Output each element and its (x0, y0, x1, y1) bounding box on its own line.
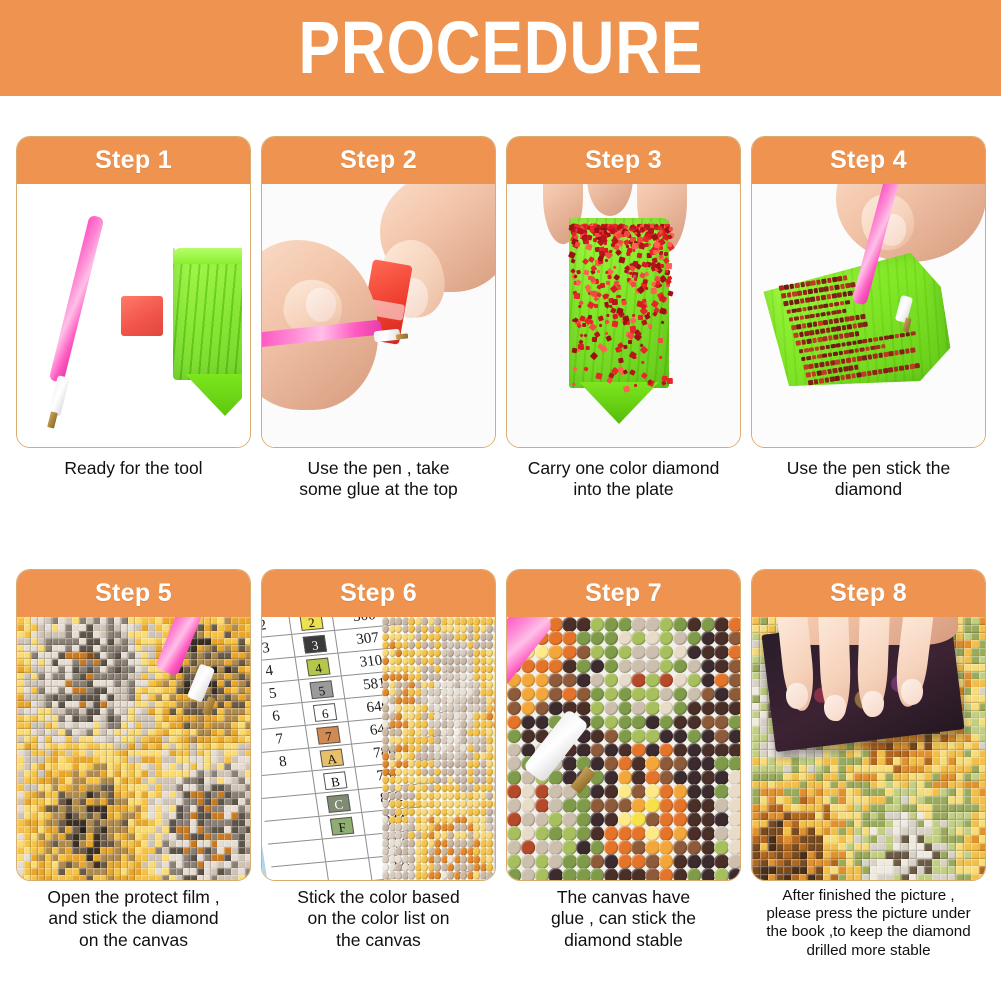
mosaic-tile (631, 659, 645, 674)
mosaic-tile (673, 617, 687, 632)
red-drill (854, 365, 859, 370)
legend-symbol: 6 (313, 703, 337, 722)
mosaic-tile (760, 703, 768, 711)
mosaic-tile (760, 851, 768, 859)
mosaic-tile (493, 784, 496, 793)
mosaic-tile (645, 784, 659, 799)
step-header-label-7: Step 7 (585, 579, 662, 608)
red-drill (848, 365, 853, 370)
tray-lip (173, 248, 242, 264)
mosaic-tile (590, 617, 604, 632)
red-drill (650, 224, 654, 228)
red-drill (584, 334, 588, 338)
red-drill (786, 292, 791, 297)
red-drill (632, 243, 637, 248)
red-drill (894, 367, 899, 372)
mosaic-tile (590, 701, 604, 716)
mosaic-tile (901, 812, 909, 820)
mosaic-tile (659, 715, 673, 730)
step-cell-1: Step 1 (16, 136, 251, 566)
red-drill (868, 338, 873, 343)
mosaic-tile (714, 715, 728, 730)
mosaic-tile (631, 645, 645, 660)
mosaic-tile (862, 812, 870, 820)
glue-wax-square-icon (121, 296, 163, 336)
nail-4 (901, 679, 923, 705)
mosaic-tile (604, 645, 618, 660)
step-caption-2: Use the pen , take some glue at the top (261, 458, 496, 501)
mosaic-tile (486, 879, 493, 881)
red-drill (660, 320, 664, 324)
mosaic-tile (604, 659, 618, 674)
red-drill (599, 324, 604, 329)
legend-symbol: 5 (309, 680, 333, 699)
mosaic-tile (701, 729, 715, 744)
legend-index (270, 851, 324, 856)
press-book-photo (752, 617, 985, 881)
red-drill (660, 264, 664, 268)
mosaic-tile (590, 659, 604, 674)
mosaic-tile (562, 868, 576, 881)
red-drill (618, 357, 624, 363)
step-card-6[interactable]: Step 6 Symbol DMC 1122300333074431055581… (261, 569, 496, 881)
red-drill (846, 374, 851, 379)
mosaic-tile (909, 812, 917, 820)
mosaic-tile (687, 631, 701, 646)
mosaic-tile (673, 854, 687, 869)
mosaic-tile (408, 879, 415, 881)
mosaic-tile (631, 729, 645, 744)
step-card-4[interactable]: Step 4 (751, 136, 986, 448)
step-header-label-2: Step 2 (340, 146, 417, 175)
mosaic-tile (760, 874, 768, 881)
red-drill (862, 372, 867, 377)
mosaic-tile (618, 673, 632, 688)
mosaic-tile (728, 659, 740, 674)
red-drill (806, 372, 811, 377)
red-drill (852, 323, 857, 328)
legend-symbol: B (323, 771, 347, 790)
mosaic-tile (645, 798, 659, 813)
mosaic-tile (807, 851, 815, 859)
mosaic-tile (473, 879, 480, 881)
red-drill (819, 378, 824, 383)
mosaic-tile (815, 851, 823, 859)
mosaic-tile (659, 631, 673, 646)
mosaic-tile (576, 687, 590, 702)
red-drill (799, 315, 804, 320)
mosaic-tile (507, 729, 521, 744)
mosaic-tile (728, 701, 740, 716)
mosaic-tile (714, 868, 728, 881)
mosaic-tile (909, 874, 917, 881)
red-drill (855, 331, 860, 336)
mosaic-tile (618, 756, 632, 771)
mosaic-tile (204, 875, 212, 881)
step-image-5 (17, 617, 250, 881)
red-drill (594, 303, 599, 308)
mosaic-tile (604, 784, 618, 799)
red-drill (641, 372, 647, 378)
red-drill (828, 335, 833, 340)
mosaic-tile (760, 625, 768, 633)
mosaic-tile (645, 617, 659, 632)
mosaic-tile (701, 701, 715, 716)
red-drill (842, 292, 847, 297)
mosaic-tile (535, 687, 549, 702)
mosaic-tile (576, 645, 590, 660)
legend-symbol: 2 (299, 617, 323, 630)
red-drill (589, 352, 597, 360)
red-drill (816, 279, 821, 284)
mosaic-tile (956, 851, 964, 859)
step-caption-6: Stick the color based on the color list … (261, 887, 496, 951)
mosaic-tile (645, 743, 659, 758)
mosaic-tile (807, 874, 815, 881)
mosaic-tile (245, 736, 250, 744)
nail-2 (824, 695, 846, 721)
mosaic-tile (562, 826, 576, 841)
step-cell-3: Step 3 (506, 136, 741, 566)
legend-symbol: C (326, 794, 350, 813)
red-drill (865, 346, 870, 351)
mosaic-tile (728, 798, 740, 813)
mosaic-tile (631, 784, 645, 799)
mosaic-tile (576, 798, 590, 813)
step-header-label-1: Step 1 (95, 146, 172, 175)
mosaic-tile (673, 659, 687, 674)
mosaic-tile (576, 854, 590, 869)
red-drill (905, 348, 910, 353)
mosaic-tile (687, 687, 701, 702)
red-drill (846, 341, 851, 346)
mosaic-tile (576, 840, 590, 855)
red-drill (619, 256, 626, 263)
mosaic-tile (956, 742, 964, 750)
mosaic-tile (631, 868, 645, 881)
mosaic-tile (521, 784, 535, 799)
red-drill (813, 288, 818, 293)
mosaic-tile (618, 812, 632, 827)
mosaic-tile (467, 879, 474, 881)
red-drill (838, 367, 843, 372)
mosaic-tile (493, 673, 496, 682)
mosaic-tile (631, 631, 645, 646)
red-drill (807, 322, 812, 327)
mosaic-tile (521, 715, 535, 730)
red-drill (827, 352, 832, 357)
mosaic-tile (687, 868, 701, 881)
mosaic-tile (701, 854, 715, 869)
mosaic-tile (535, 645, 549, 660)
red-drill (667, 290, 673, 296)
step-header-4: Step 4 (752, 137, 985, 184)
red-drill (878, 352, 883, 357)
mosaic-tile (618, 826, 632, 841)
mosaic-tile (493, 808, 496, 817)
red-drill (637, 252, 643, 258)
red-drill (813, 305, 818, 310)
mosaic-tile (507, 784, 521, 799)
red-drill (835, 376, 840, 381)
mosaic-tile (714, 826, 728, 841)
red-drill (574, 293, 581, 300)
mosaic-tile (714, 729, 728, 744)
mosaic-tile (728, 631, 740, 646)
red-drill (809, 330, 814, 335)
mosaic-tile (590, 631, 604, 646)
red-drill (830, 377, 835, 382)
mosaic-tile (807, 812, 815, 820)
mosaic-tile (604, 617, 618, 632)
pick-drill-photo (752, 184, 985, 448)
mosaic-tile (687, 854, 701, 869)
mosaic-tile (714, 659, 728, 674)
mosaic-tile (728, 854, 740, 869)
red-drill (585, 243, 593, 251)
red-drill (814, 363, 819, 368)
red-drill (826, 311, 831, 316)
mosaic-tile (645, 715, 659, 730)
mosaic-tile (631, 701, 645, 716)
mosaic-tile (714, 631, 728, 646)
red-drill (645, 242, 649, 246)
mosaic-tile (493, 879, 496, 881)
mosaic-tile (421, 879, 428, 881)
red-drill (814, 379, 819, 384)
step-card-5[interactable]: Step 5 (16, 569, 251, 881)
red-drill (820, 328, 825, 333)
legend-symbol: F (330, 816, 354, 835)
red-drill (823, 336, 828, 341)
mosaic-tile (562, 659, 576, 674)
red-drill (572, 367, 578, 373)
step-image-3 (507, 184, 740, 448)
mosaic-tile (659, 784, 673, 799)
step-caption-5: Open the protect film , and stick the di… (16, 887, 251, 951)
legend-symbol: 7 (316, 725, 340, 744)
legend-index: 8 (262, 751, 311, 773)
mosaic-tile (701, 631, 715, 646)
mosaic-tile (535, 798, 549, 813)
red-drill (574, 274, 577, 277)
mosaic-tile (714, 756, 728, 771)
legend-symbol-cell: 5 (298, 676, 345, 702)
red-drill (840, 284, 845, 289)
red-drill (832, 293, 837, 298)
mosaic-tile (548, 673, 562, 688)
mosaic-tile (728, 868, 740, 881)
mosaic-tile (604, 631, 618, 646)
mosaic-tile (854, 851, 862, 859)
step-header-label-4: Step 4 (830, 146, 907, 175)
red-drill (612, 265, 616, 269)
red-drill (816, 371, 821, 376)
procedure-infographic: PROCEDURE Step 1 (0, 0, 1001, 1001)
mosaic-tile (389, 879, 396, 881)
red-drill (643, 280, 647, 284)
step-cell-5: Step 5 Open the protect film , and stick… (16, 569, 251, 989)
step-card-2[interactable]: Step 2 (261, 136, 496, 448)
step-caption-8: After finished the picture , please pres… (745, 887, 992, 960)
step-card-3[interactable]: Step 3 (506, 136, 741, 448)
mosaic-tile (862, 874, 870, 881)
red-drill (841, 325, 846, 330)
mosaic-tile (562, 617, 576, 632)
mosaic-tile (714, 743, 728, 758)
red-drill (836, 326, 841, 331)
mosaic-tile (590, 840, 604, 855)
mosaic-tile (701, 645, 715, 660)
mosaic-tile (901, 874, 909, 881)
mosaic-tile (645, 687, 659, 702)
red-drill (652, 312, 657, 317)
mosaic-tile (128, 875, 136, 881)
mosaic-tile (590, 729, 604, 744)
mosaic-tile (701, 868, 715, 881)
mosaic-tile (701, 687, 715, 702)
mosaic-tile (507, 687, 521, 702)
red-drill (910, 364, 915, 369)
mosaic-tile (548, 687, 562, 702)
mosaic-tile (631, 715, 645, 730)
red-drill (810, 297, 815, 302)
red-drill (640, 346, 648, 354)
red-drill (827, 369, 832, 374)
red-drill (618, 295, 622, 299)
legend-symbol-cell: 3 (291, 631, 338, 657)
mosaic-tile (687, 729, 701, 744)
red-drill (792, 291, 797, 296)
red-drill (830, 343, 835, 348)
red-drill (822, 370, 827, 375)
mosaic-tile (687, 743, 701, 758)
mosaic-tile (659, 673, 673, 688)
mosaic-tile (645, 631, 659, 646)
mosaic-tile (659, 729, 673, 744)
mosaic-tile (687, 784, 701, 799)
mosaic-tile (493, 657, 496, 666)
red-drill (800, 282, 805, 287)
red-drill (841, 358, 846, 363)
mosaic-tile (480, 879, 487, 881)
mosaic-tile (562, 840, 576, 855)
mosaic-tile (673, 687, 687, 702)
red-drill (793, 333, 798, 338)
red-drill (801, 340, 806, 345)
mosaic-tile (618, 631, 632, 646)
red-drill (804, 331, 809, 336)
mosaic-tile (590, 687, 604, 702)
mosaic-tile (714, 812, 728, 827)
step-image-6: Symbol DMC 11223003330744310555816664677… (262, 617, 495, 881)
mosaic-tile (659, 756, 673, 771)
mosaic-tile (687, 812, 701, 827)
step-header-label-5: Step 5 (95, 579, 172, 608)
mosaic-tile (548, 798, 562, 813)
mosaic-tile (618, 687, 632, 702)
red-drill (857, 323, 862, 328)
red-drill (900, 332, 905, 337)
mosaic-tile (714, 673, 728, 688)
steps-row-top: Step 1 (0, 136, 1001, 566)
step-card-1[interactable]: Step 1 (16, 136, 251, 448)
red-drill (668, 226, 672, 230)
red-drill (577, 349, 581, 353)
red-drill (849, 349, 854, 354)
red-drill (799, 332, 804, 337)
step-card-7[interactable]: Step 7 (506, 569, 741, 881)
mosaic-tile (590, 645, 604, 660)
mosaic-tile (618, 701, 632, 716)
mosaic-tile (714, 840, 728, 855)
mosaic-tile (673, 701, 687, 716)
page-title: PROCEDURE (298, 11, 703, 85)
mosaic-tile (659, 687, 673, 702)
mosaic-tile (815, 812, 823, 820)
mosaic-tile (659, 659, 673, 674)
red-drill (862, 338, 867, 343)
red-drill (606, 313, 610, 317)
mosaic-tile (128, 736, 136, 744)
legend-symbol-cell (322, 836, 369, 862)
red-drill (807, 306, 812, 311)
red-drill (802, 290, 807, 295)
mosaic-tile (204, 736, 212, 744)
mosaic-tiles (382, 617, 495, 881)
mosaic-tile (728, 826, 740, 841)
red-drill (894, 333, 899, 338)
red-drill (856, 373, 861, 378)
step-card-8[interactable]: Step 8 (751, 569, 986, 881)
mosaic-tile (590, 756, 604, 771)
step-header-label-6: Step 6 (340, 579, 417, 608)
red-drill (867, 354, 872, 359)
mosaic-tile (728, 770, 740, 785)
mosaic-tile (701, 826, 715, 841)
mosaic-tile (548, 784, 562, 799)
red-drill (603, 301, 608, 306)
red-drill (840, 375, 845, 380)
mosaic-tile (604, 687, 618, 702)
mosaic-tile (687, 756, 701, 771)
step-cell-2: Step 2 (261, 136, 496, 566)
mosaic-tile (659, 854, 673, 869)
red-drill (779, 285, 784, 290)
red-drill (833, 351, 838, 356)
mosaic-tile (535, 812, 549, 827)
pink-pen-icon (49, 215, 105, 384)
mosaic-tile (507, 743, 521, 758)
red-drill (883, 352, 888, 357)
red-drill (600, 345, 608, 353)
red-drill (628, 340, 632, 344)
mosaic-tile (979, 625, 985, 633)
mosaic-tile (428, 879, 435, 881)
mosaic-tile (673, 645, 687, 660)
mosaic-tile (979, 664, 985, 672)
legend-symbol: 3 (303, 634, 327, 653)
legend-index: 7 (262, 728, 308, 750)
red-drill (784, 284, 789, 289)
red-drill (843, 275, 848, 280)
mosaic-tile (728, 729, 740, 744)
red-drill (651, 281, 655, 285)
red-drill (873, 353, 878, 358)
mosaic-tile (687, 840, 701, 855)
red-drill (630, 317, 636, 323)
mosaic-tile (604, 868, 618, 881)
